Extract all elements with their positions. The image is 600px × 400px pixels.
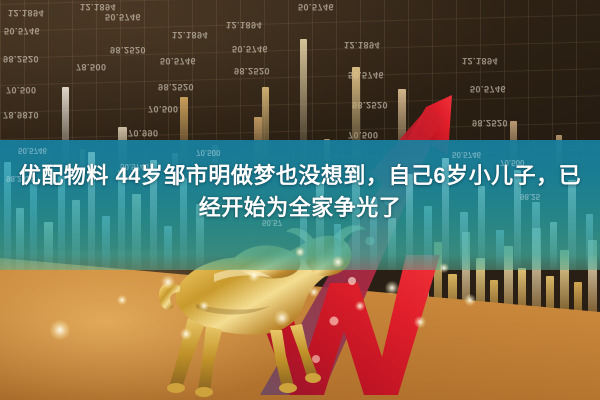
teal-number: 50.5746 xyxy=(452,150,481,159)
board-number: 12.1894 xyxy=(8,8,44,18)
board-number: 12.1894 xyxy=(462,56,498,66)
teal-bar xyxy=(164,226,172,270)
board-number: 50.5746 xyxy=(160,56,196,66)
board-number: 50.5746 xyxy=(4,26,40,36)
board-number: 78.500 xyxy=(76,62,107,72)
teal-bar xyxy=(334,224,341,270)
grid-line-horizontal xyxy=(0,14,600,32)
board-number: 98.2520 xyxy=(3,54,39,64)
teal-number: 70.500 xyxy=(196,148,220,157)
board-number: 50.5746 xyxy=(298,2,334,12)
board-number: 78.9810 xyxy=(3,110,39,120)
board-number: 98.2520 xyxy=(234,66,270,76)
board-number: 50.5746 xyxy=(232,44,268,54)
board-number: 12.1894 xyxy=(172,30,208,40)
teal-bar xyxy=(388,218,396,270)
board-number: 70.500 xyxy=(6,85,37,95)
board-number: 50.5746 xyxy=(470,84,506,94)
teal-bar xyxy=(102,216,110,270)
board-number: 12.1894 xyxy=(344,40,380,50)
headline-text: 优配物料 44岁邹市明做梦也没想到，自己6岁小儿子，已经开始为全家争光了 xyxy=(0,160,600,224)
board-number: 12.1894 xyxy=(226,20,262,30)
teal-bar xyxy=(550,222,557,270)
board-number: 12.1894 xyxy=(80,2,116,12)
board-number: 98.2520 xyxy=(158,82,194,92)
board-number: 50.5746 xyxy=(105,12,141,22)
news-thumbnail-image: 12.189450.574698.252070.50078.981012.189… xyxy=(0,0,600,400)
teal-bar xyxy=(496,230,504,270)
teal-bar xyxy=(44,222,53,270)
board-number: 70.990 xyxy=(128,128,159,138)
board-number: 98.2520 xyxy=(110,45,146,55)
board-number: 70.500 xyxy=(148,104,179,114)
teal-number: 50.5746 xyxy=(18,146,47,155)
